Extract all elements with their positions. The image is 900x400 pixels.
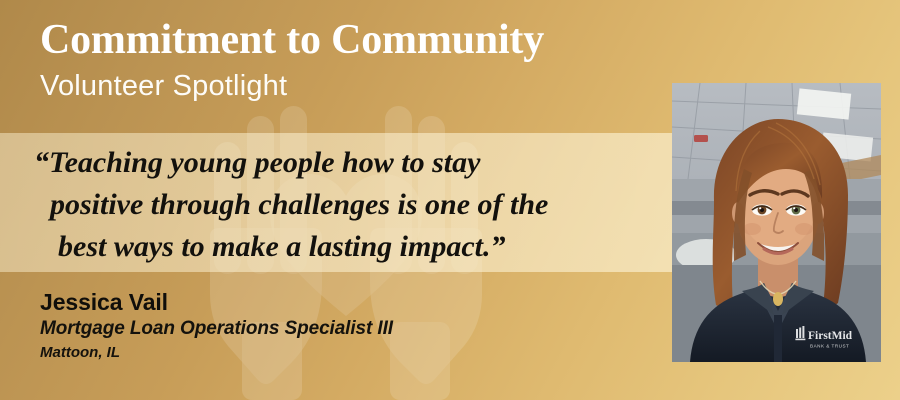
person-role: Mortgage Loan Operations Specialist III — [40, 316, 640, 342]
person-name: Jessica Vail — [40, 288, 640, 316]
volunteer-photo: FirstMid BANK & TRUST — [672, 83, 881, 362]
quote-line: best ways to make a lasting impact.” — [34, 226, 664, 268]
quote-line: “Teaching young people how to stay — [34, 142, 664, 184]
quote-line: positive through challenges is one of th… — [34, 184, 664, 226]
page-title: Commitment to Community — [40, 16, 660, 64]
page-subtitle: Volunteer Spotlight — [40, 68, 660, 104]
header-block: Commitment to Community Volunteer Spotli… — [40, 16, 660, 104]
person-block: Jessica Vail Mortgage Loan Operations Sp… — [40, 288, 640, 364]
quote-block: “Teaching young people how to stay posit… — [34, 142, 664, 268]
svg-text:FirstMid: FirstMid — [808, 330, 853, 342]
person-location: Mattoon, IL — [40, 342, 640, 364]
volunteer-spotlight-banner: Commitment to Community Volunteer Spotli… — [0, 0, 900, 400]
svg-text:BANK & TRUST: BANK & TRUST — [810, 344, 849, 349]
